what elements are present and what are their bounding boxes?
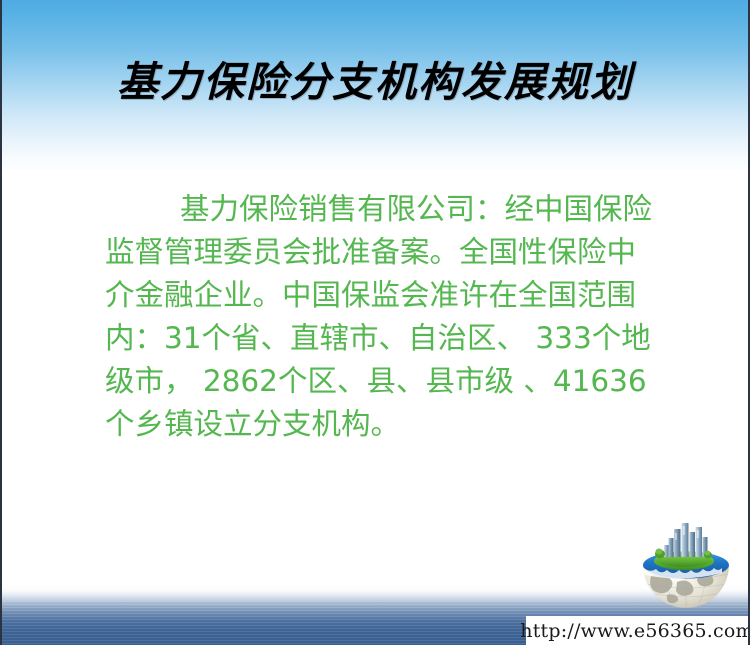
slide-body-paragraph: 基力保险销售有限公司：经中国保险监督管理委员会批准备案。全国性保险中介金融企业。… (105, 188, 665, 446)
watermark-box: http://www.e56365.com (526, 616, 748, 645)
watermark-url: http://www.e56365.com (520, 620, 750, 642)
slide-title: 基力保险分支机构发展规划 (2, 58, 748, 107)
presentation-slide: 基力保险分支机构发展规划 基力保险销售有限公司：经中国保险监督管理委员会批准备案… (0, 0, 750, 645)
earth-globe-city-logo (637, 518, 735, 618)
